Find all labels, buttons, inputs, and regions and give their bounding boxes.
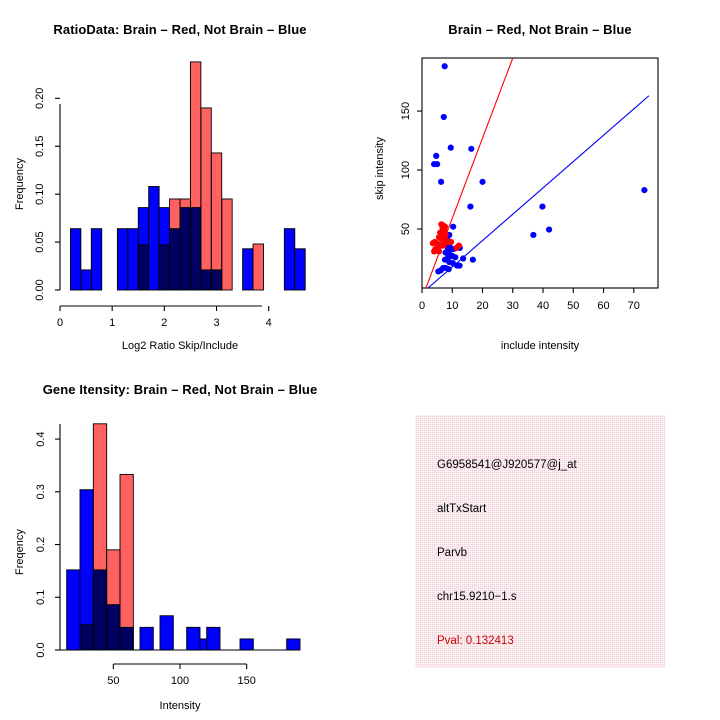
gene-hist-bar-brain — [80, 625, 93, 650]
scatter-point-not-brain — [467, 204, 473, 210]
probe-id-text: G6958541@J920577@j_at — [437, 459, 577, 471]
scatter-frame — [422, 58, 658, 288]
ratio-hist-bar-not-brain — [117, 229, 127, 290]
ratio-hist-bar-brain — [138, 245, 148, 290]
scatter-point-not-brain — [438, 179, 444, 185]
scatter-point-not-brain — [479, 179, 485, 185]
scatter-lines-group — [426, 58, 649, 288]
scatter-y-tick-label: 100 — [400, 161, 412, 179]
ratio-hist-bar-not-brain — [91, 229, 101, 290]
ratio-histogram-xlabel: Log2 Ratio Skip/Include — [0, 340, 360, 352]
event-type-text: altTxStart — [437, 503, 486, 515]
gene-hist-bar-brain — [120, 474, 133, 650]
scatter-point-not-brain — [539, 204, 545, 210]
gene-hist-y-tick-label: 0.1 — [35, 590, 47, 605]
gene-hist-y-tick-label: 0.0 — [35, 642, 47, 657]
scatter-x-tick-label: 50 — [567, 300, 579, 312]
panel-intensity-scatter: Brain – Red, Not Brain – Blue skip inten… — [360, 0, 720, 360]
ratio-hist-x-tick-label: 0 — [57, 317, 63, 329]
scatter-point-not-brain — [452, 254, 458, 260]
pval-text: Pval: 0.132413 — [437, 635, 514, 647]
gene-hist-bar-not-brain — [207, 627, 220, 650]
ratio-hist-bar-brain — [190, 62, 200, 290]
ratio-histogram-plot-area: 0.000.050.100.150.2001234 — [0, 0, 360, 330]
scatter-point-not-brain — [456, 262, 462, 268]
ratio-hist-bar-not-brain — [243, 249, 253, 290]
gene-hist-bar-not-brain — [287, 639, 300, 650]
probe-info-box: G6958541@J920577@j_at altTxStart Parvb c… — [415, 415, 665, 668]
scatter-point-brain — [448, 239, 454, 245]
gene-symbol-text: Parvb — [437, 547, 467, 559]
gene-hist-y-tick-label: 0.2 — [35, 537, 47, 552]
scatter-y-tick-label: 150 — [400, 102, 412, 120]
ratio-hist-bar-not-brain — [295, 249, 305, 290]
ratio-hist-x-tick-label: 2 — [161, 317, 167, 329]
locus-text: chr15.9210−1.s — [437, 591, 517, 603]
gene-hist-y-tick-label: 0.4 — [35, 431, 47, 446]
scatter-point-not-brain — [433, 153, 439, 159]
panel-probe-info: G6958541@J920577@j_at altTxStart Parvb c… — [360, 360, 720, 720]
scatter-x-tick-label: 60 — [597, 300, 609, 312]
ratio-hist-bar-not-brain — [149, 187, 159, 291]
ratio-hist-y-tick-label: 0.10 — [34, 183, 46, 204]
ratio-hist-bar-not-brain — [128, 229, 138, 290]
ratio-hist-bar-brain — [180, 199, 190, 290]
gene-histogram-xlabel: Intensity — [0, 700, 360, 712]
scatter-x-tick-label: 0 — [419, 300, 425, 312]
gene-hist-bar-not-brain — [160, 616, 173, 650]
scatter-point-not-brain — [441, 114, 447, 120]
ratio-hist-bar-brain — [222, 199, 232, 290]
scatter-point-not-brain — [468, 146, 474, 152]
scatter-point-brain — [441, 242, 447, 248]
ratio-hist-y-tick-label: 0.15 — [34, 136, 46, 157]
scatter-plot-area: 01020304050607050100150 — [360, 0, 720, 330]
ratio-hist-bar-brain — [211, 153, 221, 290]
gene-hist-x-tick-label: 50 — [107, 675, 119, 687]
ratio-hist-x-tick-label: 4 — [266, 317, 272, 329]
scatter-point-not-brain — [435, 268, 441, 274]
ratio-hist-bar-not-brain — [70, 229, 80, 290]
gene-hist-x-tick-label: 150 — [237, 675, 255, 687]
scatter-point-not-brain — [546, 227, 552, 233]
scatter-x-tick-label: 30 — [507, 300, 519, 312]
scatter-point-not-brain — [460, 255, 466, 261]
panel-ratio-histogram: RatioData: Brain – Red, Not Brain – Blue… — [0, 0, 360, 360]
ratio-hist-x-tick-label: 1 — [109, 317, 115, 329]
gene-hist-bar-brain — [93, 424, 106, 650]
plot-canvas: RatioData: Brain – Red, Not Brain – Blue… — [0, 0, 720, 720]
scatter-x-tick-label: 10 — [446, 300, 458, 312]
ratio-hist-bar-brain — [201, 108, 211, 290]
scatter-point-not-brain — [450, 224, 456, 230]
scatter-xlabel: include intensity — [360, 340, 720, 352]
scatter-point-brain — [453, 245, 459, 251]
scatter-point-not-brain — [434, 161, 440, 167]
gene-hist-y-tick-label: 0.3 — [35, 484, 47, 499]
ratio-hist-bar-brain — [159, 245, 169, 290]
gene-hist-bar-not-brain — [187, 627, 200, 650]
ratio-hist-bar-not-brain — [284, 229, 294, 290]
gene-hist-x-tick-label: 100 — [171, 675, 189, 687]
gene-hist-bar-not-brain — [140, 627, 153, 650]
scatter-point-not-brain — [442, 63, 448, 69]
ratio-hist-bar-brain — [170, 199, 180, 290]
scatter-point-not-brain — [641, 187, 647, 193]
gene-hist-bar-brain — [107, 550, 120, 650]
gene-hist-bar-not-brain — [67, 570, 80, 650]
scatter-point-not-brain — [446, 266, 452, 272]
scatter-point-not-brain — [448, 145, 454, 151]
ratio-hist-bar-not-brain — [81, 270, 91, 290]
scatter-point-brain — [431, 248, 437, 254]
gene-hist-bar-not-brain — [240, 639, 253, 650]
scatter-x-tick-label: 70 — [628, 300, 640, 312]
scatter-x-tick-label: 40 — [537, 300, 549, 312]
scatter-point-brain — [443, 232, 449, 238]
ratio-hist-bar-brain — [253, 244, 263, 290]
scatter-x-tick-label: 20 — [476, 300, 488, 312]
scatter-y-tick-label: 50 — [400, 223, 412, 235]
scatter-point-not-brain — [470, 257, 476, 263]
ratio-hist-y-tick-label: 0.20 — [34, 88, 46, 109]
panel-gene-intensity-histogram: Gene Itensity: Brain – Red, Not Brain – … — [0, 360, 360, 720]
ratio-hist-x-tick-label: 3 — [213, 317, 219, 329]
ratio-hist-y-tick-label: 0.00 — [34, 279, 46, 300]
ratio-hist-y-tick-label: 0.05 — [34, 231, 46, 252]
gene-histogram-plot-area: 0.00.10.20.30.450100150 — [0, 360, 360, 690]
scatter-point-not-brain — [530, 232, 536, 238]
